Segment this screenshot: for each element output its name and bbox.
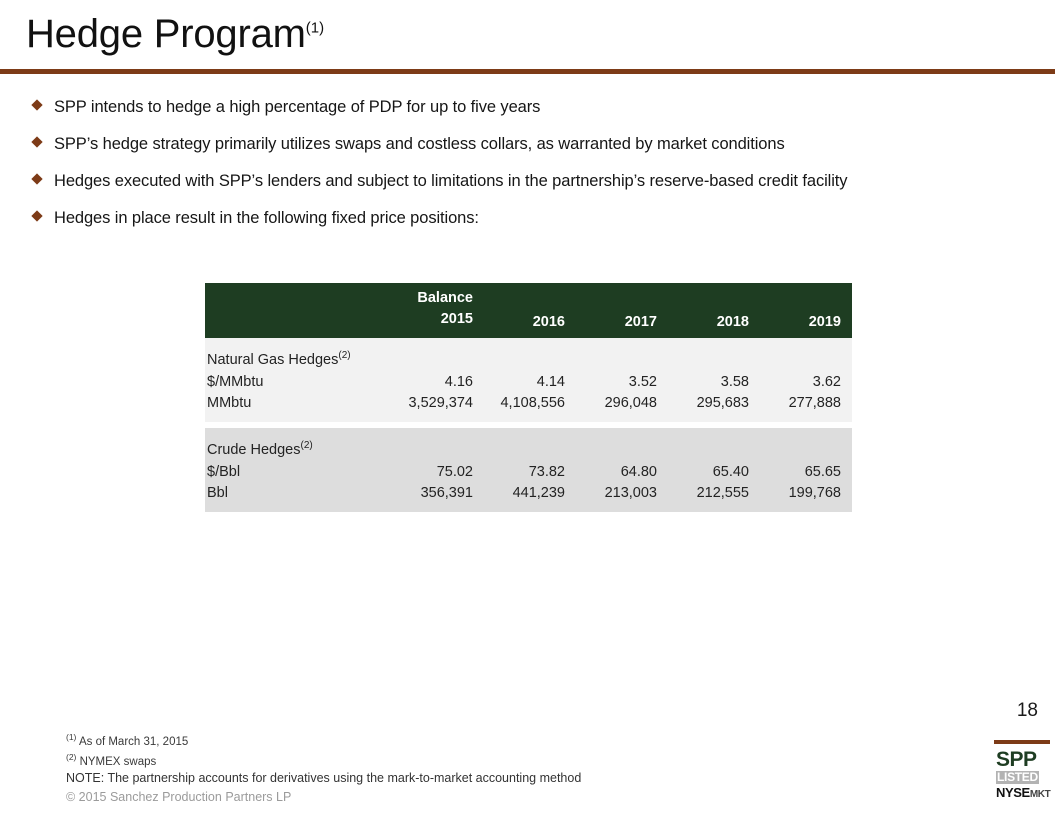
cell-2016: 73.82 [484, 462, 576, 483]
note-text: NOTE: The partnership accounts for deriv… [66, 771, 581, 785]
cell-2015: 75.02 [392, 462, 484, 483]
diamond-bullet-icon [26, 170, 54, 183]
table-header: Balance 2015 2016 2017 2018 2019 [205, 283, 852, 338]
cell-2019: 199,768 [760, 483, 852, 512]
column-header-2016: 2016 [484, 283, 576, 338]
table-row: Natural Gas Hedges(2) [205, 338, 852, 372]
cell-2016: 4,108,556 [484, 393, 576, 422]
table-row: $/Bbl 75.02 73.82 64.80 65.40 65.65 [205, 462, 852, 483]
column-header-label [205, 283, 392, 338]
balance-label: Balance [392, 288, 473, 309]
list-item: Hedges executed with SPP’s lenders and s… [26, 170, 1026, 194]
cell-2016: 441,239 [484, 483, 576, 512]
cell-2019: 65.65 [760, 462, 852, 483]
column-header-2015: Balance 2015 [392, 283, 484, 338]
bullet-text: SPP’s hedge strategy primarily utilizes … [54, 133, 785, 157]
bullet-list: SPP intends to hedge a high percentage o… [26, 96, 1026, 244]
cell-2018: 65.40 [668, 462, 760, 483]
logo-exchange-text: NYSEMKT [996, 786, 1050, 802]
cell-2017: 213,003 [576, 483, 668, 512]
footnote-1: (1) As of March 31, 2015 [66, 731, 188, 751]
list-item: SPP intends to hedge a high percentage o… [26, 96, 1026, 120]
cell-2017: 296,048 [576, 393, 668, 422]
page-title: Hedge Program(1) [26, 12, 324, 56]
group-title-natural-gas: Natural Gas Hedges(2) [205, 338, 852, 372]
logo-divider [994, 740, 1050, 744]
table-row: Crude Hedges(2) [205, 428, 852, 462]
cell-2015: 356,391 [392, 483, 484, 512]
cell-2015: 3,529,374 [392, 393, 484, 422]
footnote-2: (2) NYMEX swaps [66, 751, 188, 771]
logo-spp-text: SPP [996, 750, 1050, 769]
copyright-text: © 2015 Sanchez Production Partners LP [66, 790, 291, 804]
diamond-bullet-icon [26, 133, 54, 146]
diamond-bullet-icon [26, 96, 54, 109]
row-label: Bbl [205, 483, 392, 512]
logo-listed-badge: LISTED [996, 771, 1039, 784]
cell-2019: 277,888 [760, 393, 852, 422]
footnotes: (1) As of March 31, 2015 (2) NYMEX swaps [66, 731, 188, 770]
cell-2019: 3.62 [760, 372, 852, 393]
column-header-2018: 2018 [668, 283, 760, 338]
row-label: $/MMbtu [205, 372, 392, 393]
column-header-2019: 2019 [760, 283, 852, 338]
table-row: $/MMbtu 4.16 4.14 3.52 3.58 3.62 [205, 372, 852, 393]
cell-2018: 212,555 [668, 483, 760, 512]
list-item: Hedges in place result in the following … [26, 207, 1026, 231]
cell-2017: 3.52 [576, 372, 668, 393]
bullet-text: SPP intends to hedge a high percentage o… [54, 96, 540, 120]
bullet-text: Hedges in place result in the following … [54, 207, 479, 231]
list-item: SPP’s hedge strategy primarily utilizes … [26, 133, 1026, 157]
page-number: 18 [1017, 700, 1038, 722]
cell-2018: 295,683 [668, 393, 760, 422]
row-label: $/Bbl [205, 462, 392, 483]
diamond-bullet-icon [26, 207, 54, 220]
page-title-superscript: (1) [306, 20, 324, 37]
column-header-2017: 2017 [576, 283, 668, 338]
cell-2017: 64.80 [576, 462, 668, 483]
table-row: Bbl 356,391 441,239 213,003 212,555 199,… [205, 483, 852, 512]
row-label: MMbtu [205, 393, 392, 422]
title-divider [0, 69, 1055, 74]
table-row: MMbtu 3,529,374 4,108,556 296,048 295,68… [205, 393, 852, 422]
group-title-crude: Crude Hedges(2) [205, 428, 852, 462]
cell-2018: 3.58 [668, 372, 760, 393]
column-header-year: 2015 [441, 311, 473, 327]
table-body: Natural Gas Hedges(2) $/MMbtu 4.16 4.14 … [205, 338, 852, 512]
cell-2016: 4.14 [484, 372, 576, 393]
page-title-text: Hedge Program [26, 12, 306, 56]
cell-2015: 4.16 [392, 372, 484, 393]
hedge-positions-table: Balance 2015 2016 2017 2018 2019 Natural… [205, 283, 852, 512]
bullet-text: Hedges executed with SPP’s lenders and s… [54, 170, 847, 194]
spp-nyse-logo: SPP LISTED NYSEMKT [996, 750, 1050, 802]
